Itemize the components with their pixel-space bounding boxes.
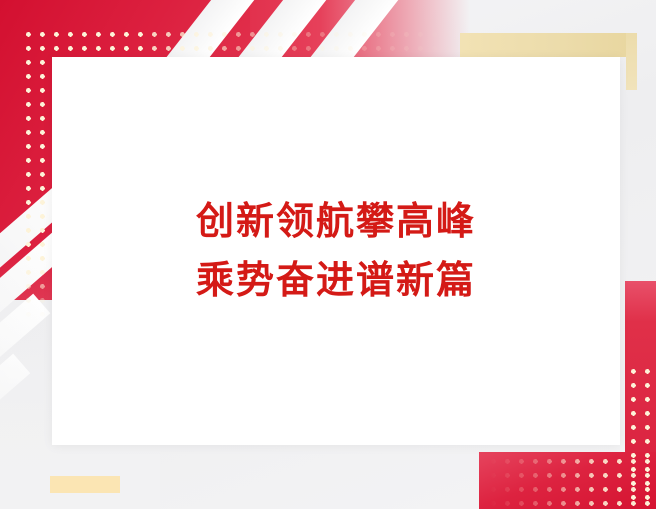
gold-bottom-tab <box>50 476 120 493</box>
page-title: 创新领航攀高峰 乘势奋进谱新篇 <box>196 192 476 310</box>
dot-grid-bottom-right-horizontal <box>490 458 652 509</box>
poster-canvas: 创新领航攀高峰 乘势奋进谱新篇 <box>0 0 656 509</box>
content-card: 创新领航攀高峰 乘势奋进谱新篇 <box>52 57 620 445</box>
gold-bracket-horizontal <box>460 33 637 57</box>
gold-bracket-vertical <box>626 33 637 90</box>
headline-line-2: 乘势奋进谱新篇 <box>196 251 476 310</box>
headline-line-1: 创新领航攀高峰 <box>196 192 476 251</box>
